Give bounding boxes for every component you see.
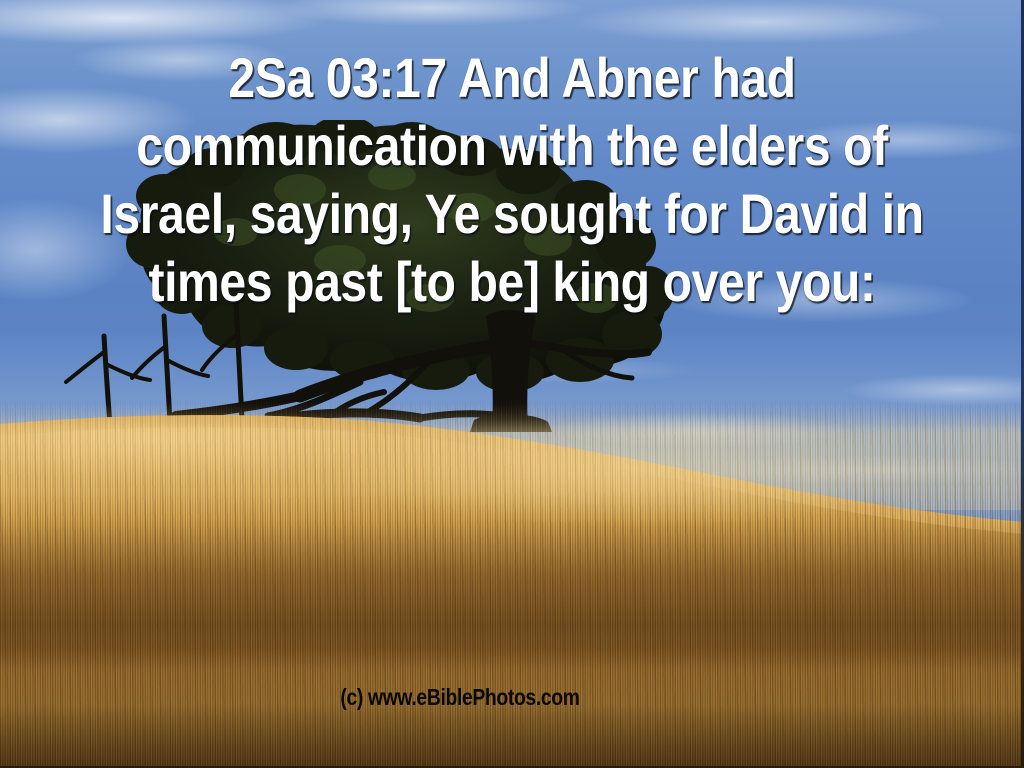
field-light-shadow-bands [0,400,1024,768]
verse-overlay: 2Sa 03:17 And Abner had communication wi… [0,44,1024,316]
scripture-image-canvas: 2Sa 03:17 And Abner had communication wi… [0,0,1024,768]
copyright-watermark: (c) www.eBiblePhotos.com [74,686,847,709]
verse-line-2: communication with the elders of [72,112,953,180]
verse-line-3: Israel, saying, Ye sought for David in [72,180,953,248]
verse-line-1: 2Sa 03:17 And Abner had [72,44,953,112]
verse-line-4: times past [to be] king over you: [72,248,953,316]
